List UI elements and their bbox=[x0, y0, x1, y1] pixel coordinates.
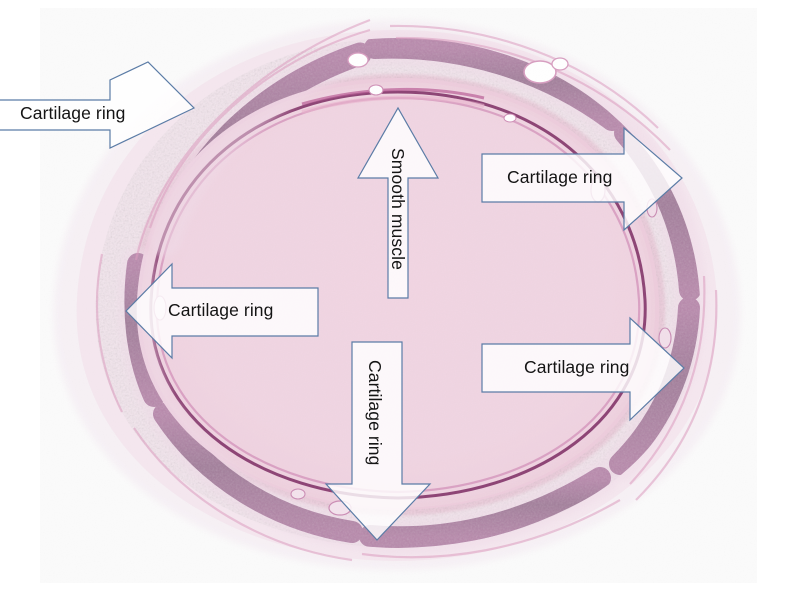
annotation-label: Cartilage ring bbox=[507, 169, 612, 187]
annotation-label: Cartilage ring bbox=[366, 360, 384, 465]
annotation-label: Cartilage ring bbox=[168, 302, 273, 320]
annotation-label: Smooth muscle bbox=[389, 148, 407, 270]
figure-canvas: Cartilage ring Smooth muscle Cartilage r… bbox=[0, 0, 800, 600]
annotation-arrow-smooth-muscle[interactable]: Smooth muscle bbox=[348, 104, 448, 300]
annotation-arrow-cartilage-ring-top-right[interactable]: Cartilage ring bbox=[480, 126, 686, 232]
annotation-arrow-cartilage-ring-bottom[interactable]: Cartilage ring bbox=[320, 340, 436, 544]
annotation-label: Cartilage ring bbox=[524, 359, 629, 377]
annotation-label: Cartilage ring bbox=[20, 105, 125, 123]
annotation-arrow-cartilage-ring-top-left[interactable]: Cartilage ring bbox=[0, 62, 198, 154]
annotation-arrow-cartilage-ring-left[interactable]: Cartilage ring bbox=[124, 262, 320, 360]
annotation-arrow-cartilage-ring-right[interactable]: Cartilage ring bbox=[480, 316, 686, 422]
